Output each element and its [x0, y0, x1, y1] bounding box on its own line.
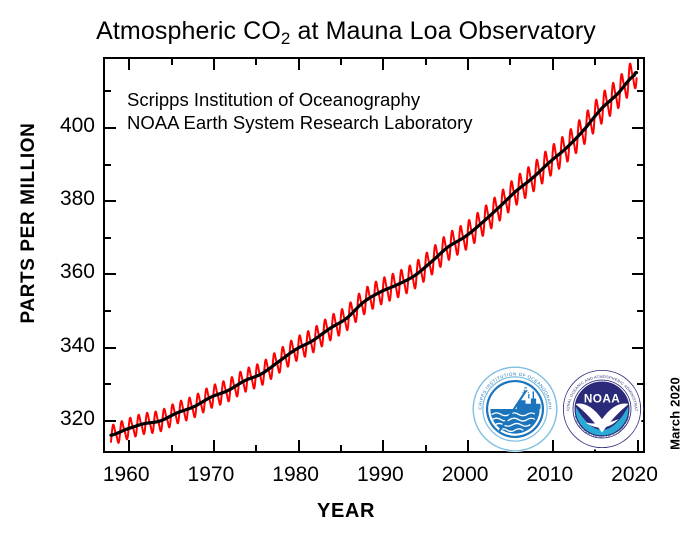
x-tick-major-top [128, 59, 130, 70]
y-tick-label: 360 [60, 261, 95, 282]
x-tick-major-top [213, 59, 215, 70]
x-tick-major-top [467, 59, 469, 70]
x-tick-major [213, 440, 215, 451]
page-title: Atmospheric CO2 at Mauna Loa Observatory [0, 17, 692, 46]
x-tick-label: 1990 [340, 464, 420, 485]
chart-page: Atmospheric CO2 at Mauna Loa Observatory… [0, 0, 692, 543]
y-tick-major [105, 420, 116, 422]
x-tick-label: 2000 [425, 464, 505, 485]
x-tick-major [467, 440, 469, 451]
y-tick-minor [105, 237, 111, 239]
x-tick-major-top [382, 59, 384, 70]
y-tick-major-right [632, 273, 643, 275]
x-tick-minor [171, 445, 173, 451]
x-tick-minor-top [594, 59, 596, 65]
y-tick-minor-right [637, 237, 643, 239]
y-tick-minor [105, 164, 111, 166]
title-suffix: at Mauna Loa Observatory [290, 17, 595, 45]
x-tick-label: 2020 [595, 464, 675, 485]
date-stamp: March 2020 [668, 354, 683, 474]
x-tick-minor [425, 445, 427, 451]
x-tick-minor-top [340, 59, 342, 65]
x-tick-minor-top [509, 59, 511, 65]
y-tick-major [105, 200, 116, 202]
y-tick-minor-right [637, 164, 643, 166]
x-tick-minor-top [425, 59, 427, 65]
x-axis-title: YEAR [0, 500, 692, 523]
y-tick-major [105, 347, 116, 349]
x-tick-label: 1980 [256, 464, 336, 485]
x-tick-major [382, 440, 384, 451]
y-tick-major [105, 273, 116, 275]
y-tick-minor-right [637, 90, 643, 92]
x-tick-minor-top [255, 59, 257, 65]
y-tick-major-right [632, 347, 643, 349]
y-tick-label: 400 [60, 115, 95, 136]
source-annotation: Scripps Institution of Oceanography NOAA… [127, 88, 472, 134]
x-tick-major-top [552, 59, 554, 70]
svg-text:NOAA: NOAA [584, 392, 620, 405]
x-tick-label: 1970 [171, 464, 251, 485]
x-tick-major-top [298, 59, 300, 70]
title-prefix: Atmospheric CO [96, 17, 281, 45]
y-tick-minor [105, 383, 111, 385]
y-tick-label: 320 [60, 408, 95, 429]
annotation-line-scripps: Scripps Institution of Oceanography [127, 88, 472, 111]
y-tick-label: 340 [60, 335, 95, 356]
x-tick-minor-top [171, 59, 173, 65]
x-tick-minor [340, 445, 342, 451]
noaa-logo: NATIONAL OCEANIC AND ATMOSPHERIC ADMINIS… [560, 363, 644, 455]
annotation-line-noaa: NOAA Earth System Research Laboratory [127, 111, 472, 134]
y-tick-major-right [632, 200, 643, 202]
scripps-institution-logo: SCRIPPS INSTITUTION OF OCEANOGRAPHY UCSD [471, 365, 559, 453]
y-tick-minor [105, 90, 111, 92]
x-tick-label: 2010 [510, 464, 590, 485]
title-subscript: 2 [281, 29, 291, 48]
x-tick-minor [255, 445, 257, 451]
y-tick-minor-right [637, 310, 643, 312]
y-tick-minor [105, 310, 111, 312]
y-axis-title: PARTS PER MILLION [18, 98, 40, 348]
x-tick-major-top [637, 59, 639, 70]
x-tick-major [298, 440, 300, 451]
y-tick-major-right [632, 127, 643, 129]
y-tick-label: 380 [60, 188, 95, 209]
y-tick-major [105, 127, 116, 129]
x-tick-major [128, 440, 130, 451]
x-tick-label: 1960 [86, 464, 166, 485]
